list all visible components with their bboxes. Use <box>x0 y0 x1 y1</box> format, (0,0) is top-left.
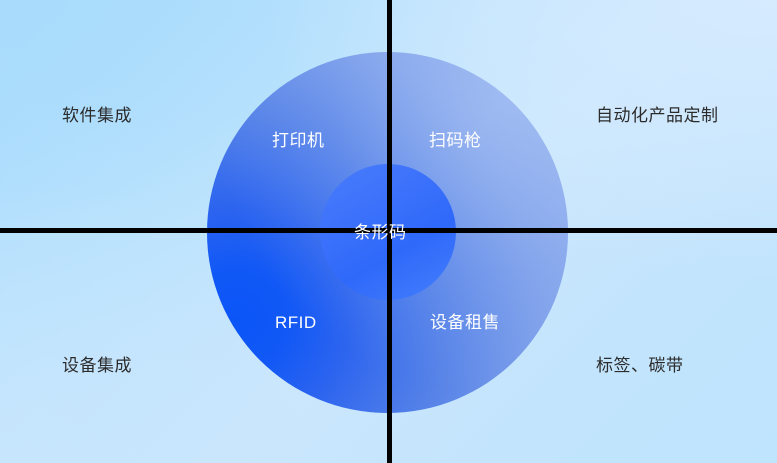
ring-label-top-left: 打印机 <box>272 132 325 149</box>
ring-label-bottom-left: RFID <box>275 314 317 331</box>
diagram-canvas: 软件集成 自动化产品定制 设备集成 标签、碳带 打印机 扫码枪 RFID 设备租… <box>0 0 777 463</box>
ring-label-top-right: 扫码枪 <box>429 132 482 149</box>
quadrant-label-top-left: 软件集成 <box>62 107 132 124</box>
core-circle-label: 条形码 <box>354 224 407 241</box>
quadrant-label-bottom-left: 设备集成 <box>62 357 132 374</box>
ring-label-bottom-right: 设备租售 <box>430 314 500 331</box>
quadrant-label-bottom-right: 标签、碳带 <box>596 357 684 374</box>
quadrant-label-top-right: 自动化产品定制 <box>596 107 719 124</box>
